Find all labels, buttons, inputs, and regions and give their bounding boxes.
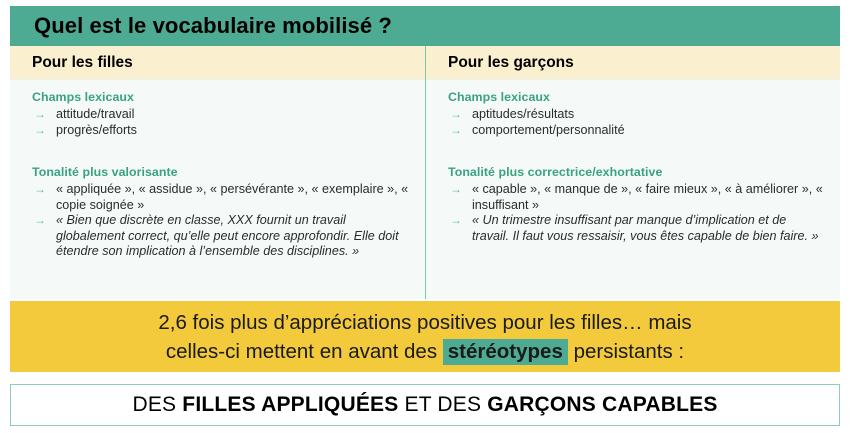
section-tonalite-garcons: Tonalité plus correctrice/exhortative → …: [448, 165, 826, 244]
callout-line-2-before: celles-ci mettent en avant des: [166, 340, 443, 363]
column-header-garcons: Pour les garçons: [426, 46, 840, 80]
callout-line-2-after: persistants :: [568, 340, 684, 363]
conclusion-part-3: ET DES: [398, 393, 487, 416]
arrow-icon: →: [448, 107, 472, 123]
list-item: → « Bien que discrète en classe, XXX fou…: [32, 213, 411, 260]
callout-band: 2,6 fois plus d’appréciations positives …: [10, 301, 840, 372]
arrow-icon: →: [32, 213, 56, 229]
callout-line-1: 2,6 fois plus d’appréciations positives …: [158, 308, 691, 337]
section-tonalite-filles: Tonalité plus valorisante → « appliquée …: [32, 165, 411, 260]
list-item-text: progrès/efforts: [56, 123, 411, 139]
conclusion-part-2: FILLES APPLIQUÉES: [182, 393, 398, 416]
arrow-icon: →: [32, 107, 56, 123]
section-title: Tonalité plus valorisante: [32, 165, 411, 179]
section-title: Champs lexicaux: [32, 90, 411, 104]
column-filles: Pour les filles Champs lexicaux → attitu…: [10, 46, 425, 299]
conclusion-text: DES FILLES APPLIQUÉES ET DES GARÇONS CAP…: [132, 393, 717, 417]
column-garcons: Pour les garçons Champs lexicaux → aptit…: [425, 46, 840, 299]
list-item: → « capable », « manque de », « faire mi…: [448, 182, 826, 213]
stereotypes-highlight: stéréotypes: [443, 339, 568, 365]
arrow-icon: →: [448, 182, 472, 198]
list-item-text: « appliquée », « assidue », « persévéran…: [56, 182, 411, 213]
list-item-text: aptitudes/résultats: [472, 107, 826, 123]
list-item: → « Un trimestre insuffisant par manque …: [448, 213, 826, 244]
conclusion-part-4: GARÇONS CAPABLES: [487, 393, 717, 416]
arrow-icon: →: [448, 123, 472, 139]
list-item-text: « Bien que discrète en classe, XXX fourn…: [56, 213, 411, 260]
list-item: → aptitudes/résultats: [448, 107, 826, 123]
column-body-garcons: Champs lexicaux → aptitudes/résultats → …: [426, 80, 840, 254]
column-body-filles: Champs lexicaux → attitude/travail → pro…: [10, 80, 425, 270]
comparison-table: Pour les filles Champs lexicaux → attitu…: [10, 46, 840, 299]
arrow-icon: →: [448, 213, 472, 229]
column-header-filles: Pour les filles: [10, 46, 425, 80]
list-item: → « appliquée », « assidue », « persévér…: [32, 182, 411, 213]
list-item: → comportement/personnalité: [448, 123, 826, 139]
list-item-text: « Un trimestre insuffisant par manque d’…: [472, 213, 826, 244]
section-title: Champs lexicaux: [448, 90, 826, 104]
list-item: → attitude/travail: [32, 107, 411, 123]
section-champs-lexicaux-filles: Champs lexicaux → attitude/travail → pro…: [32, 90, 411, 138]
slide-root: Quel est le vocabulaire mobilisé ? Pour …: [0, 0, 850, 433]
conclusion-box: DES FILLES APPLIQUÉES ET DES GARÇONS CAP…: [10, 384, 840, 426]
section-champs-lexicaux-garcons: Champs lexicaux → aptitudes/résultats → …: [448, 90, 826, 138]
list-item-text: attitude/travail: [56, 107, 411, 123]
arrow-icon: →: [32, 182, 56, 198]
column-header-label: Pour les filles: [10, 54, 133, 72]
page-title: Quel est le vocabulaire mobilisé ?: [10, 13, 392, 39]
title-banner: Quel est le vocabulaire mobilisé ?: [10, 6, 840, 46]
section-title: Tonalité plus correctrice/exhortative: [448, 165, 826, 179]
conclusion-part-1: DES: [132, 393, 182, 416]
list-item-text: « capable », « manque de », « faire mieu…: [472, 182, 826, 213]
callout-line-2: celles-ci mettent en avant des stéréotyp…: [166, 337, 684, 366]
list-item-text: comportement/personnalité: [472, 123, 826, 139]
column-header-label: Pour les garçons: [426, 54, 574, 72]
list-item: → progrès/efforts: [32, 123, 411, 139]
arrow-icon: →: [32, 123, 56, 139]
